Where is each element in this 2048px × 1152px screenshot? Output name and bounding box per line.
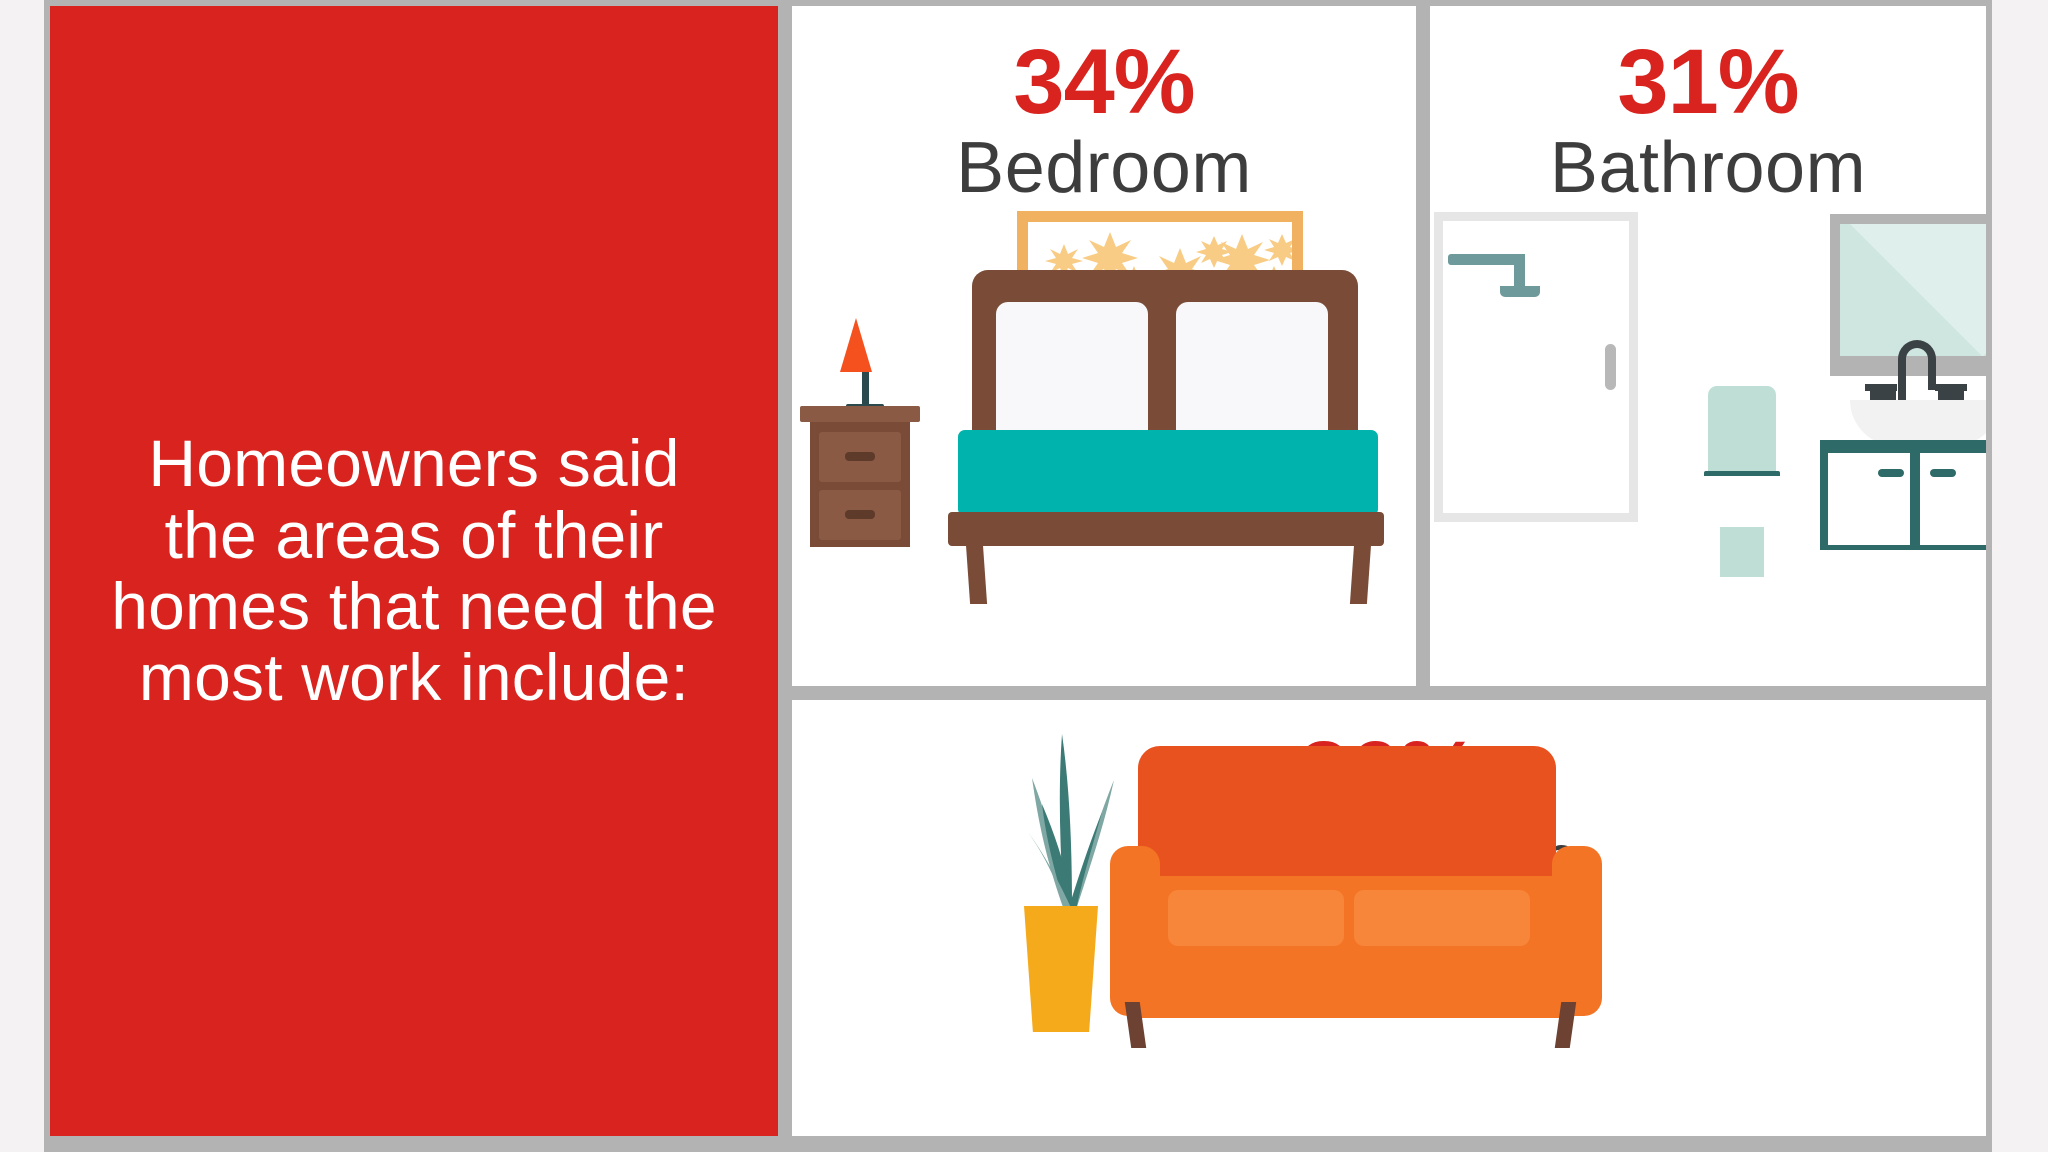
bathroom-header: 31% Bathroom xyxy=(1430,38,1986,204)
nightstand-top-icon xyxy=(800,406,920,422)
vanity-handle-right-icon xyxy=(1930,469,1956,477)
bedroom-percent: 34% xyxy=(792,38,1416,126)
shower-door-handle-icon xyxy=(1605,344,1616,390)
intro-text: Homeowners said the areas of their homes… xyxy=(106,428,722,713)
stat-panel-bedroom: 34% Bedroom xyxy=(792,6,1416,686)
pillow-right-icon xyxy=(1176,302,1328,430)
nightstand-handle-lower-icon xyxy=(845,510,875,519)
bedroom-header: 34% Bedroom xyxy=(792,38,1416,204)
bathroom-percent: 31% xyxy=(1430,38,1986,126)
mirror-glass-icon xyxy=(1840,224,1986,356)
sofa-cushion-right-icon xyxy=(1354,890,1530,946)
stat-panel-bathroom: 31% Bathroom xyxy=(1430,6,1986,686)
nightstand-handle-upper-icon xyxy=(845,452,875,461)
sofa-cushion-left-icon xyxy=(1168,890,1344,946)
bedroom-label: Bedroom xyxy=(792,132,1416,204)
bed-leg-left-icon xyxy=(966,544,987,604)
bathroom-label: Bathroom xyxy=(1430,132,1986,204)
toilet-tank-icon xyxy=(1708,386,1776,472)
faucet-column-left-icon xyxy=(1898,366,1906,402)
toilet-base-icon xyxy=(1720,527,1764,577)
pillow-left-icon xyxy=(996,302,1148,430)
mirror-reflection-icon xyxy=(1840,224,1986,356)
showerhead-icon xyxy=(1500,286,1540,297)
bed-base-icon xyxy=(948,512,1384,546)
infographic-canvas: Homeowners said the areas of their homes… xyxy=(0,0,2048,1152)
shower-arm-icon xyxy=(1448,254,1524,265)
stat-panel-living-room: 26% Living room xyxy=(792,700,1986,1136)
intro-panel: Homeowners said the areas of their homes… xyxy=(50,6,778,1136)
shower-pipe-icon xyxy=(1514,254,1525,290)
bed-blanket-icon xyxy=(958,430,1378,516)
vanity-handle-left-icon xyxy=(1878,469,1904,477)
table-lamp-shade-icon xyxy=(840,318,872,372)
toilet-bowl-icon xyxy=(1698,476,1786,532)
vanity-door-left-icon xyxy=(1828,453,1910,545)
vanity-door-right-icon xyxy=(1920,453,1986,545)
plant-pot-icon xyxy=(1024,906,1098,1032)
bed-leg-right-icon xyxy=(1350,544,1371,604)
